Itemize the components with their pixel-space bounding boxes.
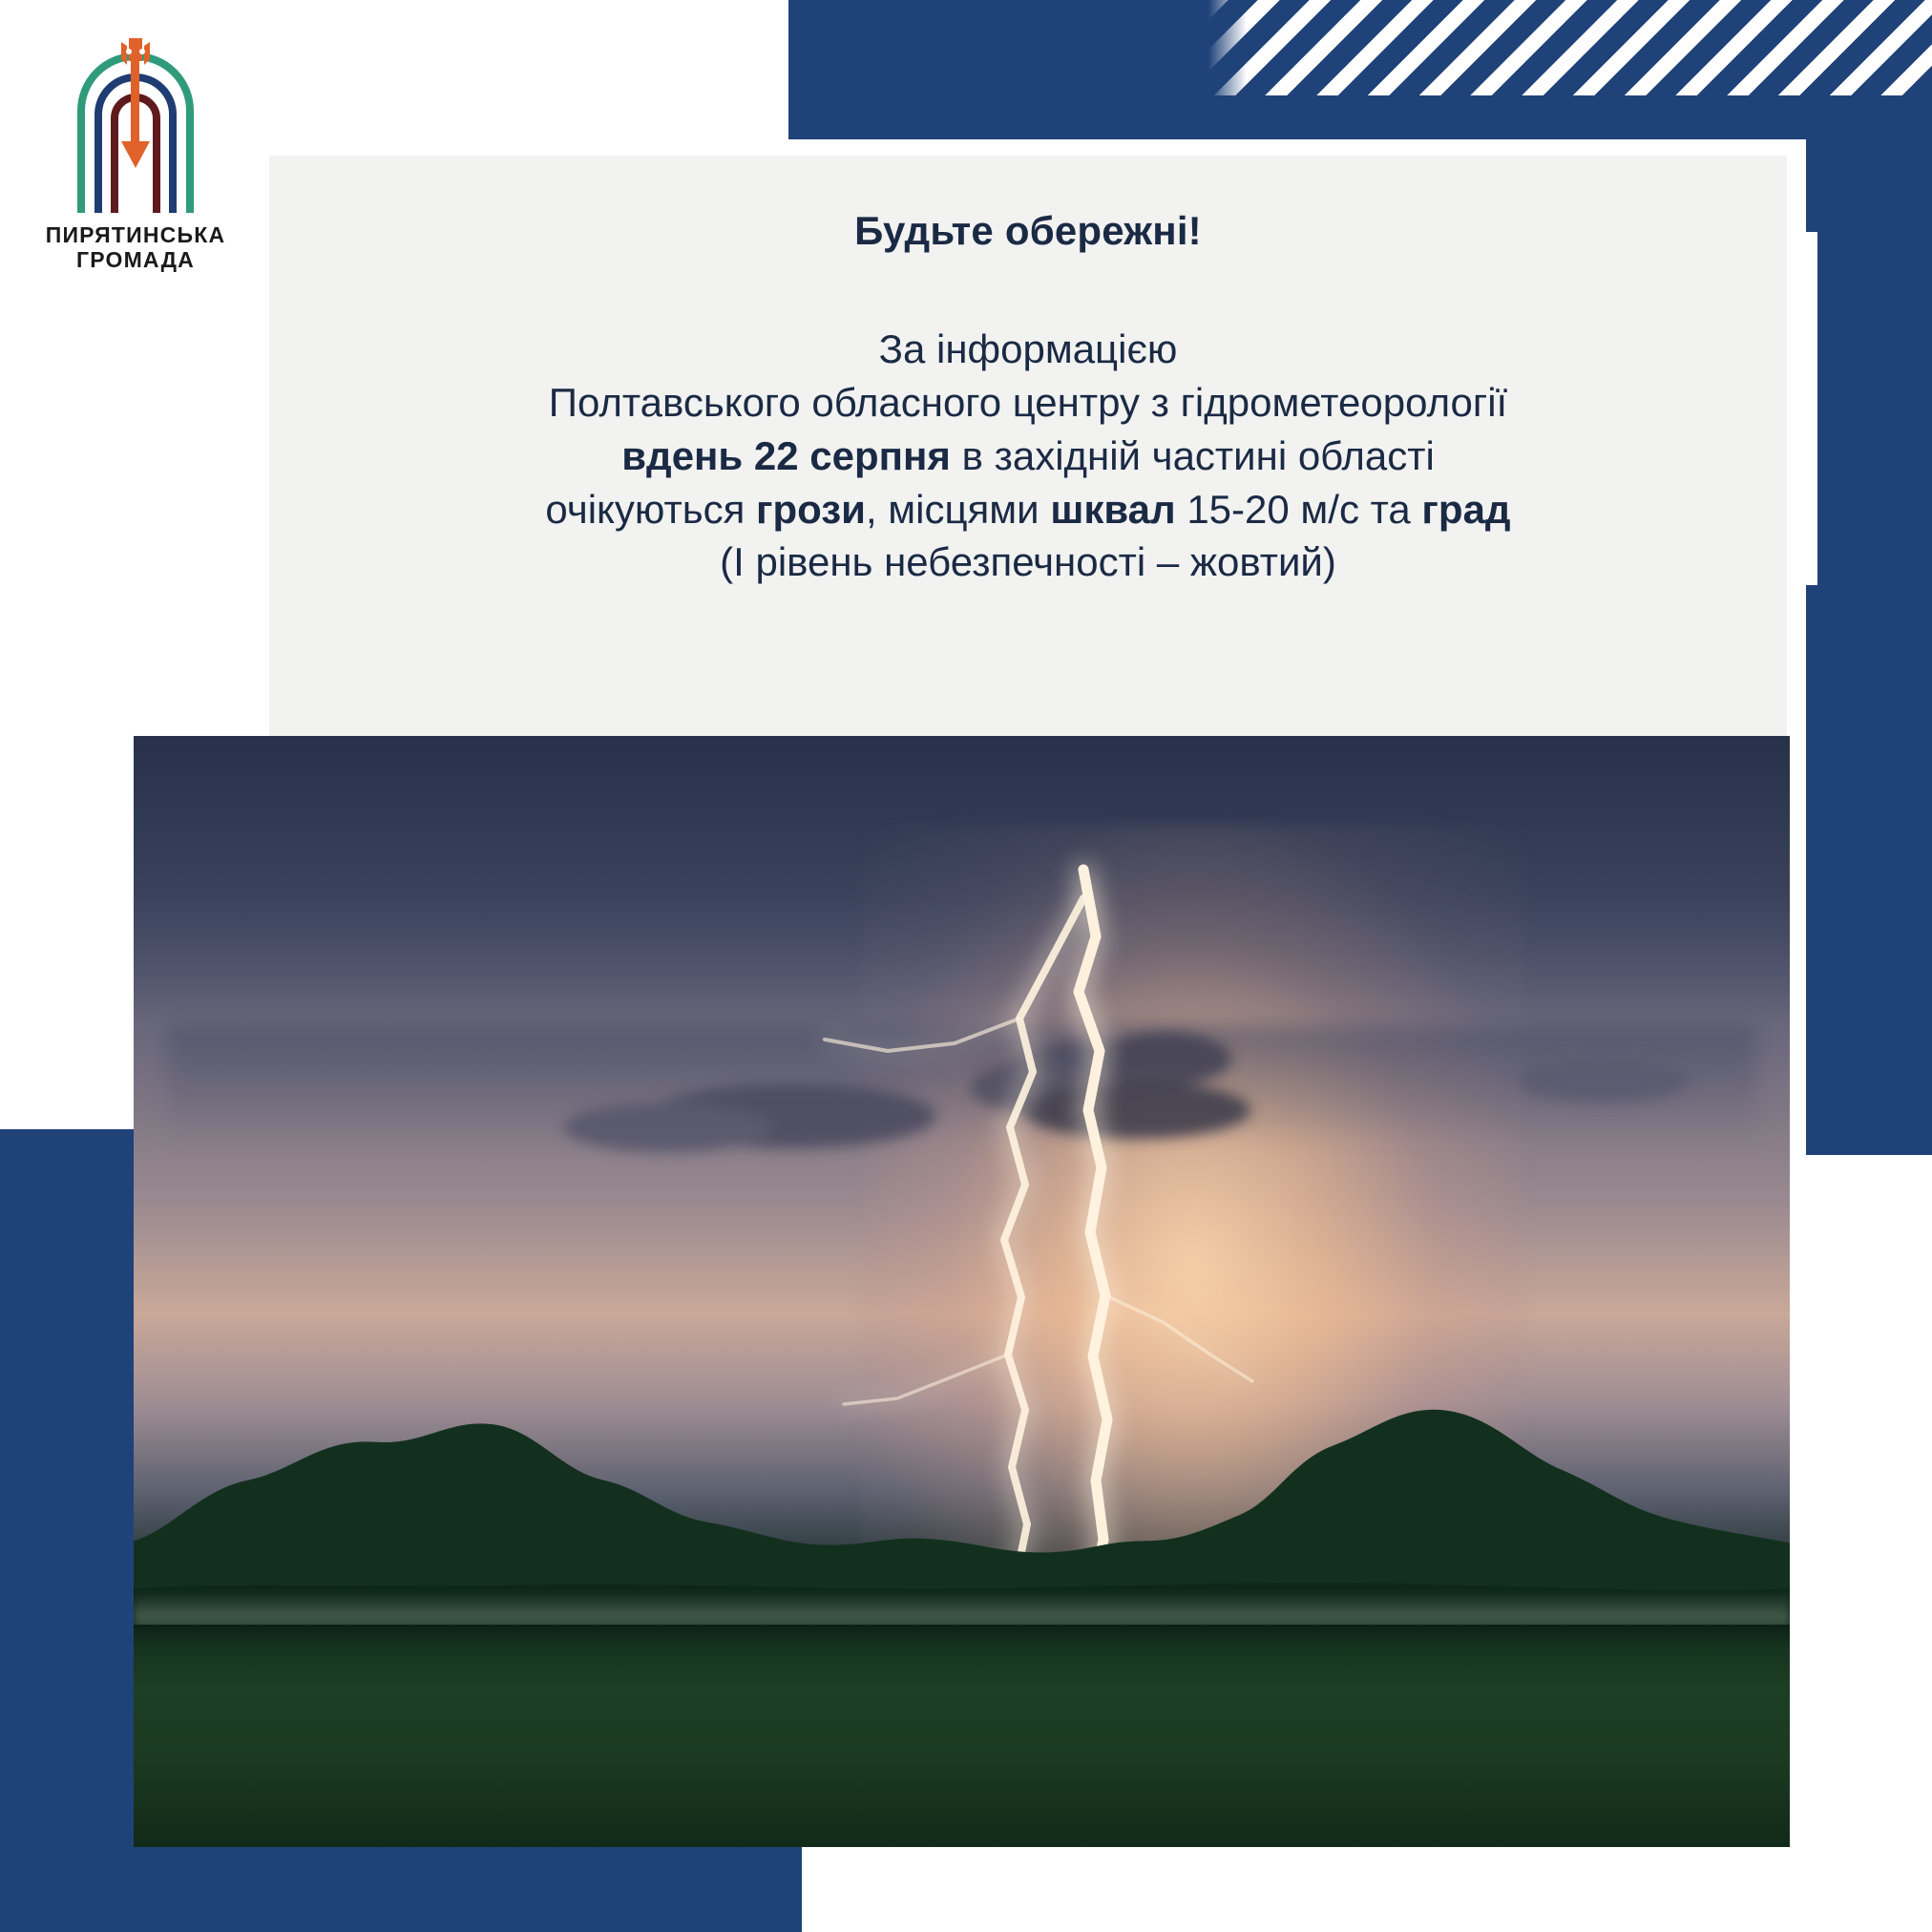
brand-logo[interactable]: ПИРЯТИНСЬКА ГРОМАДА <box>21 21 250 298</box>
brand-name-line-1: ПИРЯТИНСЬКА <box>46 223 226 248</box>
card-body-line-3: вдень 22 серпня в західній частині облас… <box>307 430 1749 483</box>
diagonal-stripes-fade <box>1208 0 1247 95</box>
card-headline: Будьте обережні! <box>269 208 1787 254</box>
card-body: За інформацією Полтавського обласного це… <box>307 323 1749 589</box>
white-accent-bar <box>1796 232 1817 585</box>
thunderstorm-emphasis: грози <box>756 487 866 532</box>
arch-arrow-logo-icon <box>64 36 207 218</box>
grass-field <box>134 1625 1790 1847</box>
squall-emphasis: шквал <box>1050 487 1175 532</box>
card-body-line-5: (І рівень небезпечності – жовтий) <box>307 535 1749 589</box>
warning-card: Будьте обережні! За інформацією Полтавсь… <box>269 156 1787 738</box>
line4-c: 15-20 м/с та <box>1176 487 1422 532</box>
brand-name: ПИРЯТИНСЬКА ГРОМАДА <box>46 223 226 273</box>
line3-rest: в західній частині області <box>951 433 1435 478</box>
card-body-line-2: Полтавського обласного центру з гідромет… <box>307 376 1749 430</box>
navy-right-block <box>1806 0 1932 1155</box>
date-emphasis: вдень 22 серпня <box>621 433 951 478</box>
line4-a: очікуються <box>545 487 756 532</box>
card-body-line-1: За інформацією <box>307 323 1749 376</box>
hail-emphasis: град <box>1421 487 1510 532</box>
card-body-line-4: очікуються грози, місцями шквал 15-20 м/… <box>307 483 1749 536</box>
brand-name-line-2: ГРОМАДА <box>46 248 226 273</box>
diagonal-stripes-pattern <box>1208 0 1932 95</box>
lightning-storm-over-field-photo <box>134 736 1790 1847</box>
tree-silhouette <box>134 1303 1790 1636</box>
line4-b: , місцями <box>866 487 1050 532</box>
